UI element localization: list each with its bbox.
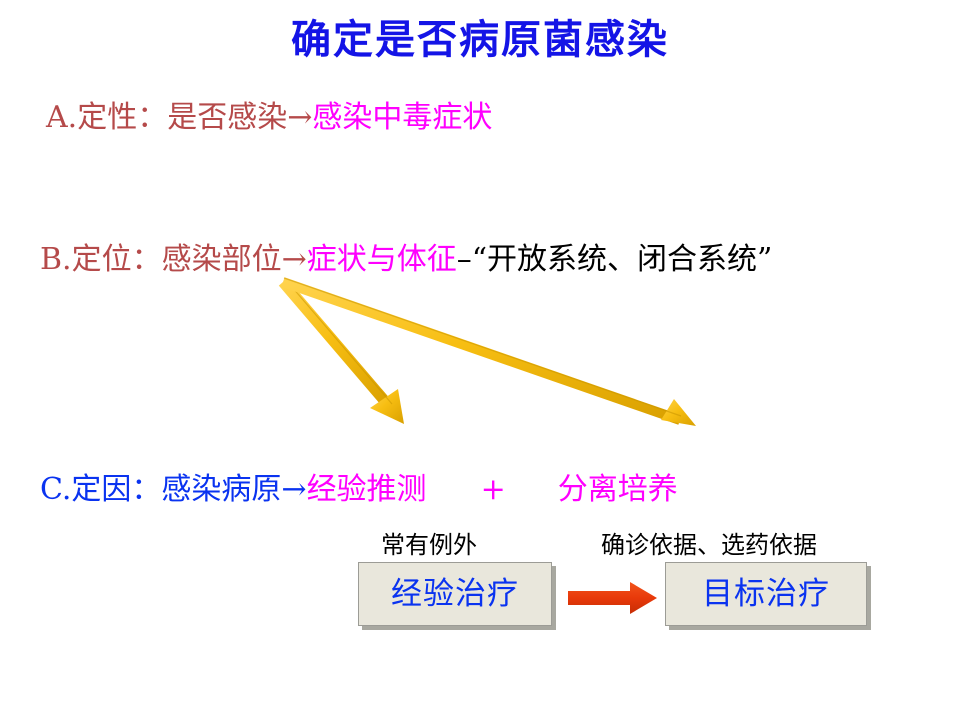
bullet-a-prefix: A.定性：是否感染→ [46, 100, 312, 135]
red-block-arrow-right-icon [568, 582, 657, 614]
yellow-arrow-down-right-icon [283, 278, 696, 426]
bullet-line-b: B.定位：感染部位→症状与体征–“开放系统、闭合系统” [40, 240, 930, 280]
bullet-line-c: C.定因：感染病原→经验推测+分离培养 [40, 470, 678, 510]
bullet-c-highlight-right: 分离培养 [558, 472, 678, 507]
box-empiric-therapy[interactable]: 经验治疗 [358, 562, 552, 626]
page-title: 确定是否病原菌感染 [0, 16, 960, 64]
bullet-c-plus: + [481, 472, 506, 507]
yellow-arrow-down-left-icon [283, 280, 404, 424]
caption-target: 确诊依据、选药依据 [601, 531, 817, 559]
caption-empiric: 常有例外 [381, 531, 477, 559]
bullet-c-highlight-left: 经验推测 [307, 472, 427, 507]
bullet-b-highlight: 症状与体征 [307, 242, 457, 277]
slide-canvas: 确定是否病原菌感染 A.定性：是否感染→感染中毒症状 B.定位：感染部位→症状与… [0, 0, 960, 720]
bullet-b-tail: –“开放系统、闭合系统” [457, 242, 773, 277]
bullet-c-prefix: C.定因：感染病原→ [40, 472, 307, 507]
box-target-therapy[interactable]: 目标治疗 [665, 562, 867, 626]
bullet-a-highlight: 感染中毒症状 [312, 100, 492, 135]
bullet-line-a: A.定性：是否感染→感染中毒症状 [46, 98, 492, 138]
bullet-b-prefix: B.定位：感染部位→ [40, 242, 307, 277]
